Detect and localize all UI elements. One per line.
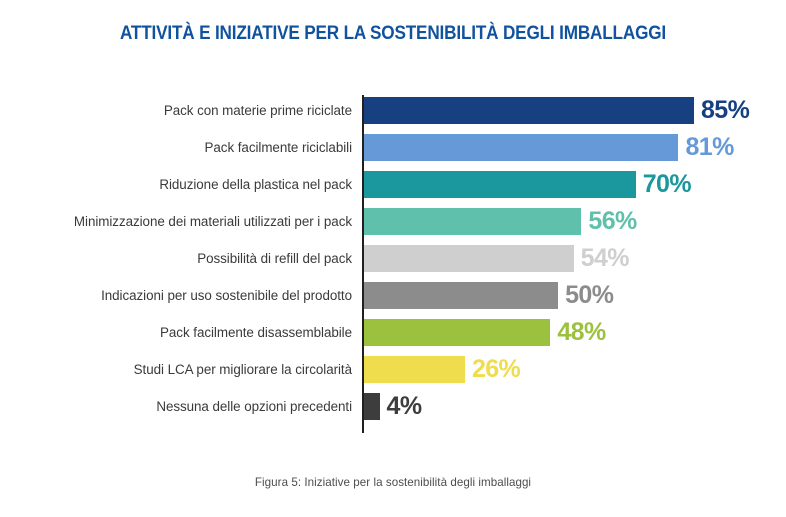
bar-row: Nessuna delle opzioni precedenti4% xyxy=(0,388,786,425)
bar-track: 48% xyxy=(364,319,550,346)
chart-figure: ATTIVITÀ E INIZIATIVE PER LA SOSTENIBILI… xyxy=(0,0,786,517)
bar-rect xyxy=(364,134,678,161)
bar-rect xyxy=(364,282,558,309)
bar-track: 4% xyxy=(364,393,380,420)
bar-track: 26% xyxy=(364,356,465,383)
bar-category-label: Minimizzazione dei materiali utilizzati … xyxy=(0,203,352,240)
bar-category-label: Nessuna delle opzioni precedenti xyxy=(0,388,352,425)
bar-rect xyxy=(364,356,465,383)
bar-row: Pack facilmente riciclabili81% xyxy=(0,129,786,166)
bar-row: Possibilità di refill del pack54% xyxy=(0,240,786,277)
figure-caption: Figura 5: Iniziative per la sostenibilit… xyxy=(0,476,786,489)
bar-chart-plot-area: Pack con materie prime riciclate85%Pack … xyxy=(0,92,786,437)
bar-category-label: Pack facilmente riciclabili xyxy=(0,129,352,166)
bar-track: 50% xyxy=(364,282,558,309)
bar-track: 81% xyxy=(364,134,678,161)
bar-category-label: Studi LCA per migliorare la circolarità xyxy=(0,351,352,388)
bar-value-label: 54% xyxy=(581,246,629,271)
bar-category-label: Pack facilmente disassemblabile xyxy=(0,314,352,351)
bar-rect xyxy=(364,97,694,124)
bar-rect xyxy=(364,319,550,346)
bar-row: Minimizzazione dei materiali utilizzati … xyxy=(0,203,786,240)
bar-category-label: Pack con materie prime riciclate xyxy=(0,92,352,129)
bar-value-label: 4% xyxy=(387,394,422,419)
bar-row: Pack facilmente disassemblabile48% xyxy=(0,314,786,351)
bar-rect xyxy=(364,245,574,272)
bar-row: Riduzione della plastica nel pack70% xyxy=(0,166,786,203)
bar-row: Studi LCA per migliorare la circolarità2… xyxy=(0,351,786,388)
bar-rect xyxy=(364,208,581,235)
bar-value-label: 48% xyxy=(557,320,605,345)
bar-value-label: 50% xyxy=(565,283,613,308)
bar-value-label: 56% xyxy=(588,209,636,234)
bar-track: 85% xyxy=(364,97,694,124)
bar-rect xyxy=(364,393,380,420)
bar-value-label: 70% xyxy=(643,172,691,197)
bar-value-label: 85% xyxy=(701,98,749,123)
bar-track: 54% xyxy=(364,245,574,272)
bar-value-label: 81% xyxy=(685,135,733,160)
bar-row: Pack con materie prime riciclate85% xyxy=(0,92,786,129)
bar-value-label: 26% xyxy=(472,357,520,382)
bar-track: 70% xyxy=(364,171,636,198)
chart-title: ATTIVITÀ E INIZIATIVE PER LA SOSTENIBILI… xyxy=(47,22,739,45)
bar-category-label: Possibilità di refill del pack xyxy=(0,240,352,277)
bar-category-label: Riduzione della plastica nel pack xyxy=(0,166,352,203)
bar-category-label: Indicazioni per uso sostenibile del prod… xyxy=(0,277,352,314)
bar-track: 56% xyxy=(364,208,581,235)
bar-rect xyxy=(364,171,636,198)
bar-row: Indicazioni per uso sostenibile del prod… xyxy=(0,277,786,314)
